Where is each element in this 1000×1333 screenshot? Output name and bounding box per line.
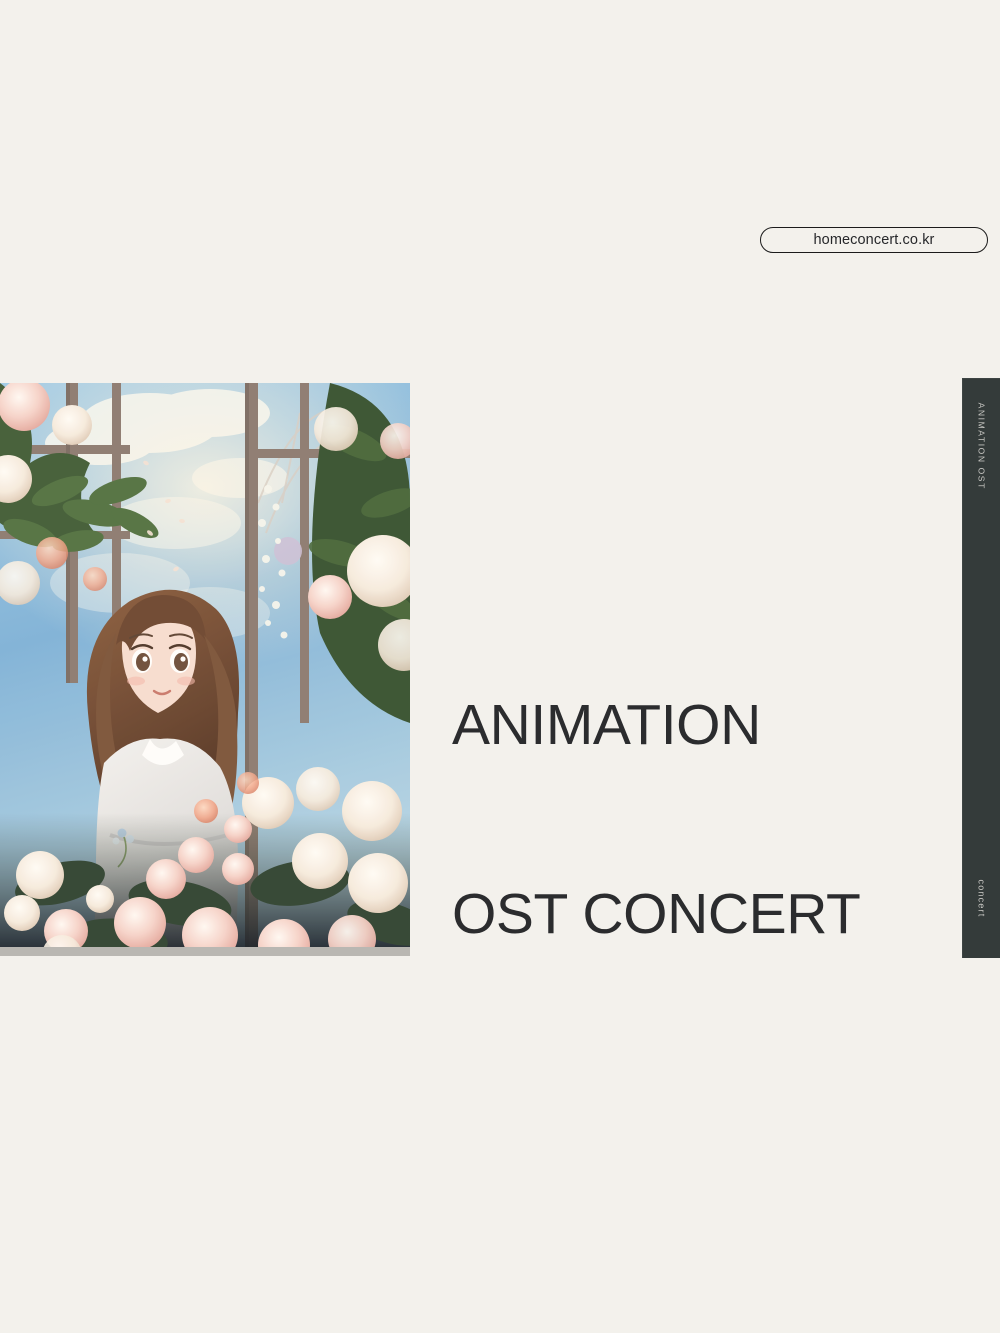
title-line-2: OST CONCERT <box>452 883 860 946</box>
side-rail-top-label: ANIMATION OST <box>977 403 986 490</box>
poster-base-band <box>0 947 410 956</box>
side-rail-bottom-label: concert <box>977 880 986 918</box>
page-title: ANIMATION OST CONCERT <box>452 568 860 1072</box>
poster-illustration <box>0 383 410 955</box>
url-text: homeconcert.co.kr <box>814 233 935 248</box>
poster-image <box>0 383 410 955</box>
title-line-1: ANIMATION <box>452 694 860 757</box>
page-canvas: homeconcert.co.kr <box>0 0 1000 1333</box>
url-pill[interactable]: homeconcert.co.kr <box>760 227 988 253</box>
side-rail: ANIMATION OST concert <box>962 378 1000 958</box>
